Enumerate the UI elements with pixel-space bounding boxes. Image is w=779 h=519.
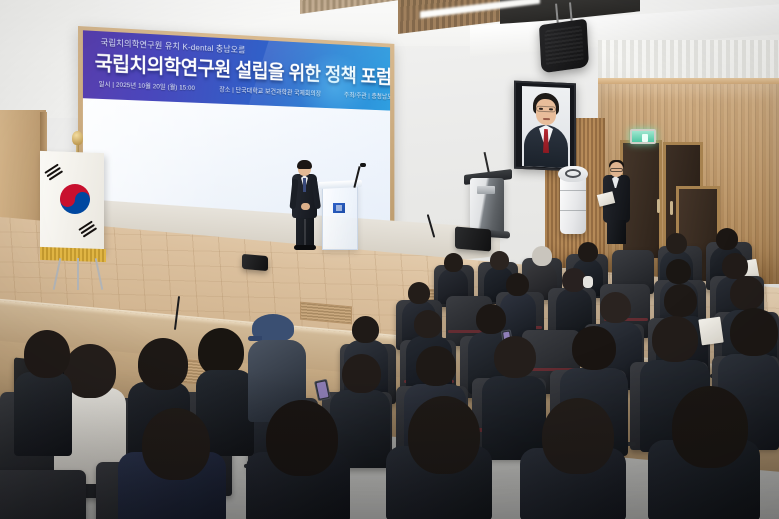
exit-sign-icon	[630, 129, 656, 144]
attendee-head	[198, 328, 244, 376]
attendee-mask-icon	[583, 276, 593, 288]
attendee-head	[444, 253, 463, 272]
attendee-head	[672, 386, 748, 468]
banner-meta-datetime: 일시 | 2025년 10월 20일 (월) 15:00	[99, 78, 195, 92]
attendee-head	[490, 251, 509, 270]
attendee-head	[652, 316, 698, 362]
flag-stand	[56, 258, 100, 290]
banner-meta-venue: 장소 | 단국대학교 보건과학관 국제회의장	[219, 83, 321, 97]
taeguk-symbol-icon	[60, 184, 90, 214]
acrylic-podium	[322, 184, 358, 250]
door-handle-icon	[657, 199, 660, 213]
air-purifier-seam	[560, 210, 586, 211]
banner-meta-host: 주최/주관 | 충청남도 · 천안시 / 단국대학교	[344, 89, 390, 103]
attendee-head	[266, 400, 338, 476]
air-purifier-ring-icon	[565, 169, 581, 178]
attendee-head	[716, 228, 738, 250]
forum-banner: 국립치의학연구원 유치 K-dental 충남오름 국립치의학연구원 설립을 위…	[83, 30, 390, 110]
standing-attendee-legs	[607, 220, 626, 244]
attendee-head	[24, 330, 70, 378]
attendee-cap-icon	[252, 314, 294, 342]
attendee-head	[506, 273, 529, 296]
attendee-head	[342, 354, 381, 393]
auditorium-photo: 국립치의학연구원 유치 K-dental 충남오름 국립치의학연구원 설립을 위…	[0, 0, 779, 519]
attendee-head	[408, 396, 480, 474]
attendee-head	[416, 346, 456, 386]
attendee-head	[572, 326, 616, 370]
flag-stand-leg	[77, 258, 79, 290]
attendee-head	[578, 242, 598, 262]
presenter-shoes	[294, 245, 316, 250]
podium-emblem-icon	[333, 203, 345, 213]
attendee-head	[664, 284, 697, 317]
presenter-leg-split	[304, 219, 306, 245]
microphone-head-icon	[360, 163, 366, 167]
attendee-head	[494, 336, 536, 378]
flag-finial-icon	[72, 131, 83, 145]
portrait-glasses-icon	[536, 106, 556, 113]
attendee-head	[730, 308, 778, 356]
presenter-hair	[297, 160, 312, 169]
attendee-head	[476, 304, 506, 334]
attendee-head	[352, 316, 379, 343]
portrait-mouth	[543, 118, 550, 120]
attendee-head	[666, 233, 687, 254]
attendee-head-grey-hair	[532, 246, 552, 266]
attendee-head	[542, 398, 614, 474]
attendee-head	[600, 292, 631, 323]
upper-right-wall-texture	[598, 40, 779, 80]
attendee-head	[414, 310, 442, 338]
attendee-head	[142, 408, 210, 480]
side-display-monitor	[514, 81, 576, 172]
presenter-tie	[303, 178, 306, 192]
standing-attendee	[600, 160, 634, 246]
attendee-head	[138, 338, 188, 390]
portrait-photo	[522, 86, 570, 168]
attendee-head	[730, 276, 764, 310]
stage-monitor-speaker	[455, 226, 491, 251]
lectern-control-panel[interactable]	[477, 186, 495, 194]
attendee-head	[408, 282, 430, 304]
stage-monitor-speaker	[242, 254, 268, 271]
presenter	[288, 161, 322, 251]
standing-attendee-glasses-icon	[610, 168, 623, 172]
attendee-program-paper	[698, 317, 723, 346]
attendee-head	[722, 253, 748, 279]
air-purifier-seam	[560, 190, 586, 191]
attendee-head	[666, 259, 691, 284]
attendee-body	[14, 372, 72, 456]
chair[interactable]	[0, 470, 86, 519]
ceiling-speaker-icon	[539, 19, 589, 74]
door-handle-icon	[670, 201, 673, 215]
presenter-hands	[301, 203, 310, 210]
